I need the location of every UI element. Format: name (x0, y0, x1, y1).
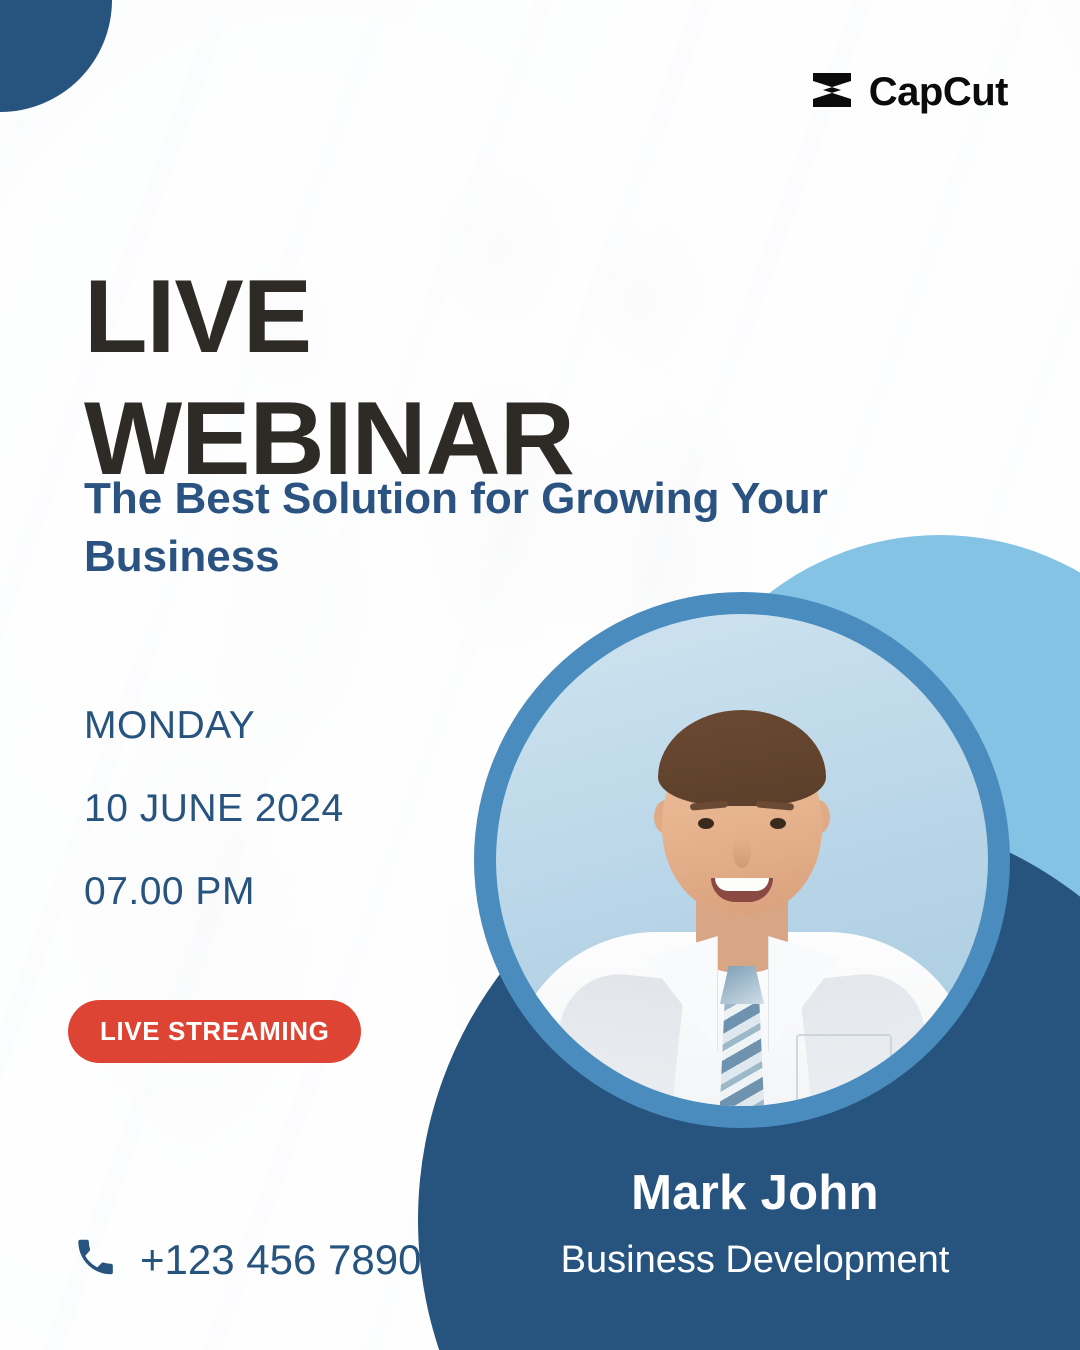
title-line-1: LIVE (84, 259, 311, 375)
schedule-day: MONDAY (84, 706, 344, 745)
live-streaming-badge[interactable]: LIVE STREAMING (68, 1000, 361, 1063)
speaker-portrait (496, 614, 988, 1106)
schedule-block: MONDAY 10 JUNE 2024 07.00 PM (84, 706, 344, 955)
speaker-role: Business Development (430, 1239, 1080, 1282)
speaker-info: Mark John Business Development (430, 1165, 1080, 1282)
capcut-logo-text: CapCut (869, 70, 1008, 115)
phone-icon (72, 1234, 118, 1285)
speaker-photo-illustration (496, 614, 988, 1106)
capcut-hourglass-icon (809, 70, 855, 115)
subtitle: The Best Solution for Growing Your Busin… (84, 470, 874, 586)
speaker-name: Mark John (430, 1165, 1080, 1221)
phone-number: +123 456 7890 (140, 1236, 421, 1284)
speaker-portrait-ring (474, 592, 1010, 1128)
page-title: LIVE WEBINAR (84, 256, 574, 501)
webinar-poster: CapCut LIVE WEBINAR The Best Solution fo… (0, 0, 1080, 1350)
capcut-logo: CapCut (809, 70, 1008, 115)
schedule-time: 07.00 PM (84, 872, 344, 911)
contact-phone-row[interactable]: +123 456 7890 (72, 1234, 421, 1285)
schedule-date: 10 JUNE 2024 (84, 789, 344, 828)
